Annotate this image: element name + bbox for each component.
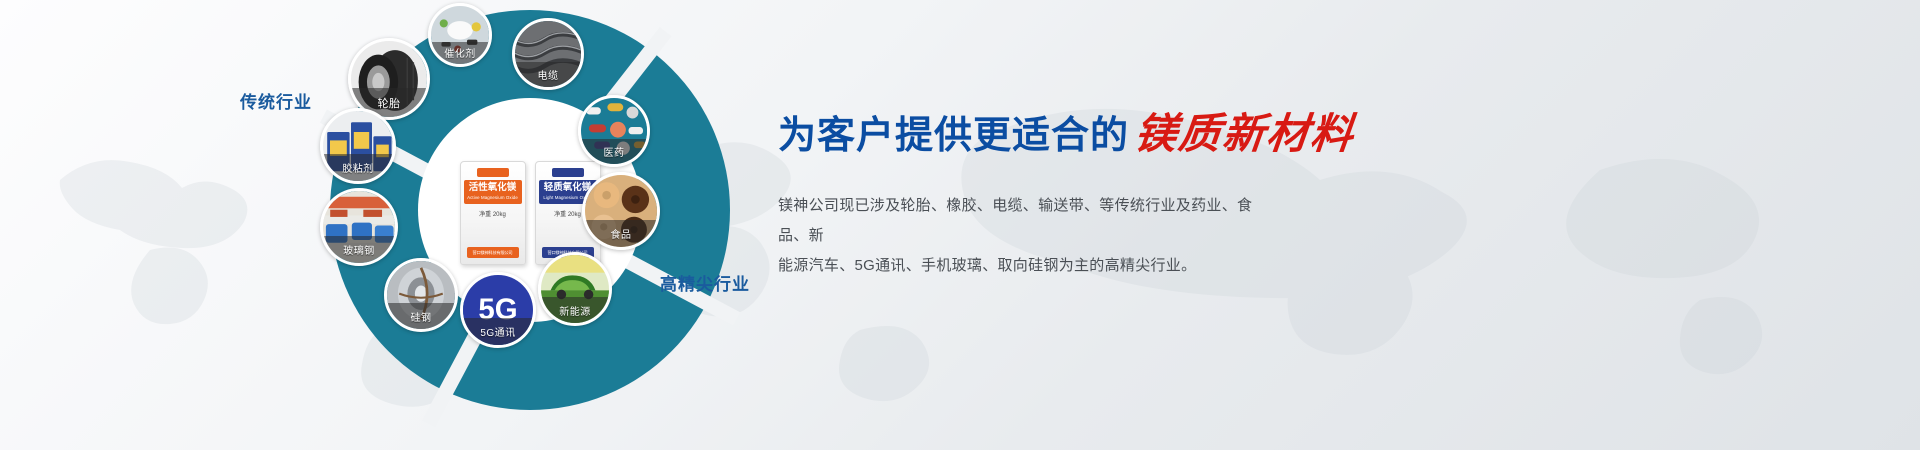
node-label-food: 食品 bbox=[585, 220, 657, 247]
industry-node-5g[interactable]: 5G 5G通讯 bbox=[460, 272, 536, 348]
industry-node-medicine[interactable]: 医药 bbox=[578, 95, 650, 167]
industry-node-cable[interactable]: 电缆 bbox=[512, 18, 584, 90]
industry-node-food[interactable]: 食品 bbox=[582, 172, 660, 250]
product-bag-active-mgo: 活性氧化镁 Active Magnesium Oxide 净重 20kg 营口镁… bbox=[460, 161, 526, 265]
bag-subtitle-left: Active Magnesium Oxide bbox=[464, 195, 522, 200]
section-label-hightech-text: 高精尖行业 bbox=[660, 275, 750, 294]
node-label-adhesive: 胶粘剂 bbox=[323, 154, 393, 181]
section-label-traditional: 传统行业 bbox=[240, 88, 312, 113]
node-label-medicine: 医药 bbox=[581, 139, 647, 164]
bag-footer-left: 营口镁神科技有限公司 bbox=[467, 247, 519, 258]
brand-logo-icon bbox=[477, 168, 509, 177]
hero-banner: 活性氧化镁 Active Magnesium Oxide 净重 20kg 营口镁… bbox=[0, 0, 1920, 450]
node-label-catalyst: 催化剂 bbox=[431, 42, 489, 64]
node-label-fiberglass: 玻璃钢 bbox=[323, 236, 395, 263]
bag-title-text-left: 活性氧化镁 bbox=[469, 182, 517, 193]
bag-title-left: 活性氧化镁 Active Magnesium Oxide bbox=[464, 180, 522, 204]
bag-net-weight-right: 净重 20kg bbox=[554, 209, 581, 218]
industry-node-new-energy[interactable]: 新能源 bbox=[538, 252, 612, 326]
body-line-2: 能源汽车、5G通讯、手机玻璃、取向硅钢为主的高精尖行业。 bbox=[778, 251, 1278, 281]
bag-net-weight-left: 净重 20kg bbox=[479, 209, 506, 218]
node-label-cable: 电缆 bbox=[515, 62, 581, 87]
banner-copy: 为客户提供更适合的 镁质新材料 镁神公司现已涉及轮胎、橡胶、电缆、输送带、等传统… bbox=[778, 100, 1478, 281]
node-label-5g: 5G通讯 bbox=[463, 318, 533, 345]
connector-traditional bbox=[318, 64, 398, 114]
industry-node-fiberglass[interactable]: 玻璃钢 bbox=[320, 188, 398, 266]
section-label-hightech: 高精尖行业 bbox=[660, 270, 750, 295]
node-label-silicon-steel: 硅钢 bbox=[387, 303, 455, 329]
industry-node-silicon-steel[interactable]: 硅钢 bbox=[384, 258, 458, 332]
headline: 为客户提供更适合的 镁质新材料 bbox=[778, 100, 1478, 161]
headline-blue: 为客户提供更适合的 bbox=[778, 104, 1129, 159]
brand-logo-icon bbox=[552, 168, 584, 177]
industry-node-catalyst[interactable]: 催化剂 bbox=[428, 3, 492, 67]
industry-node-adhesive[interactable]: 胶粘剂 bbox=[320, 108, 396, 184]
body-copy: 镁神公司现已涉及轮胎、橡胶、电缆、输送带、等传统行业及药业、食品、新 能源汽车、… bbox=[778, 191, 1278, 281]
body-line-1: 镁神公司现已涉及轮胎、橡胶、电缆、输送带、等传统行业及药业、食品、新 bbox=[778, 191, 1278, 251]
node-label-new-energy: 新能源 bbox=[541, 297, 609, 323]
headline-red: 镁质新材料 bbox=[1132, 100, 1358, 161]
section-label-traditional-text: 传统行业 bbox=[240, 93, 312, 112]
